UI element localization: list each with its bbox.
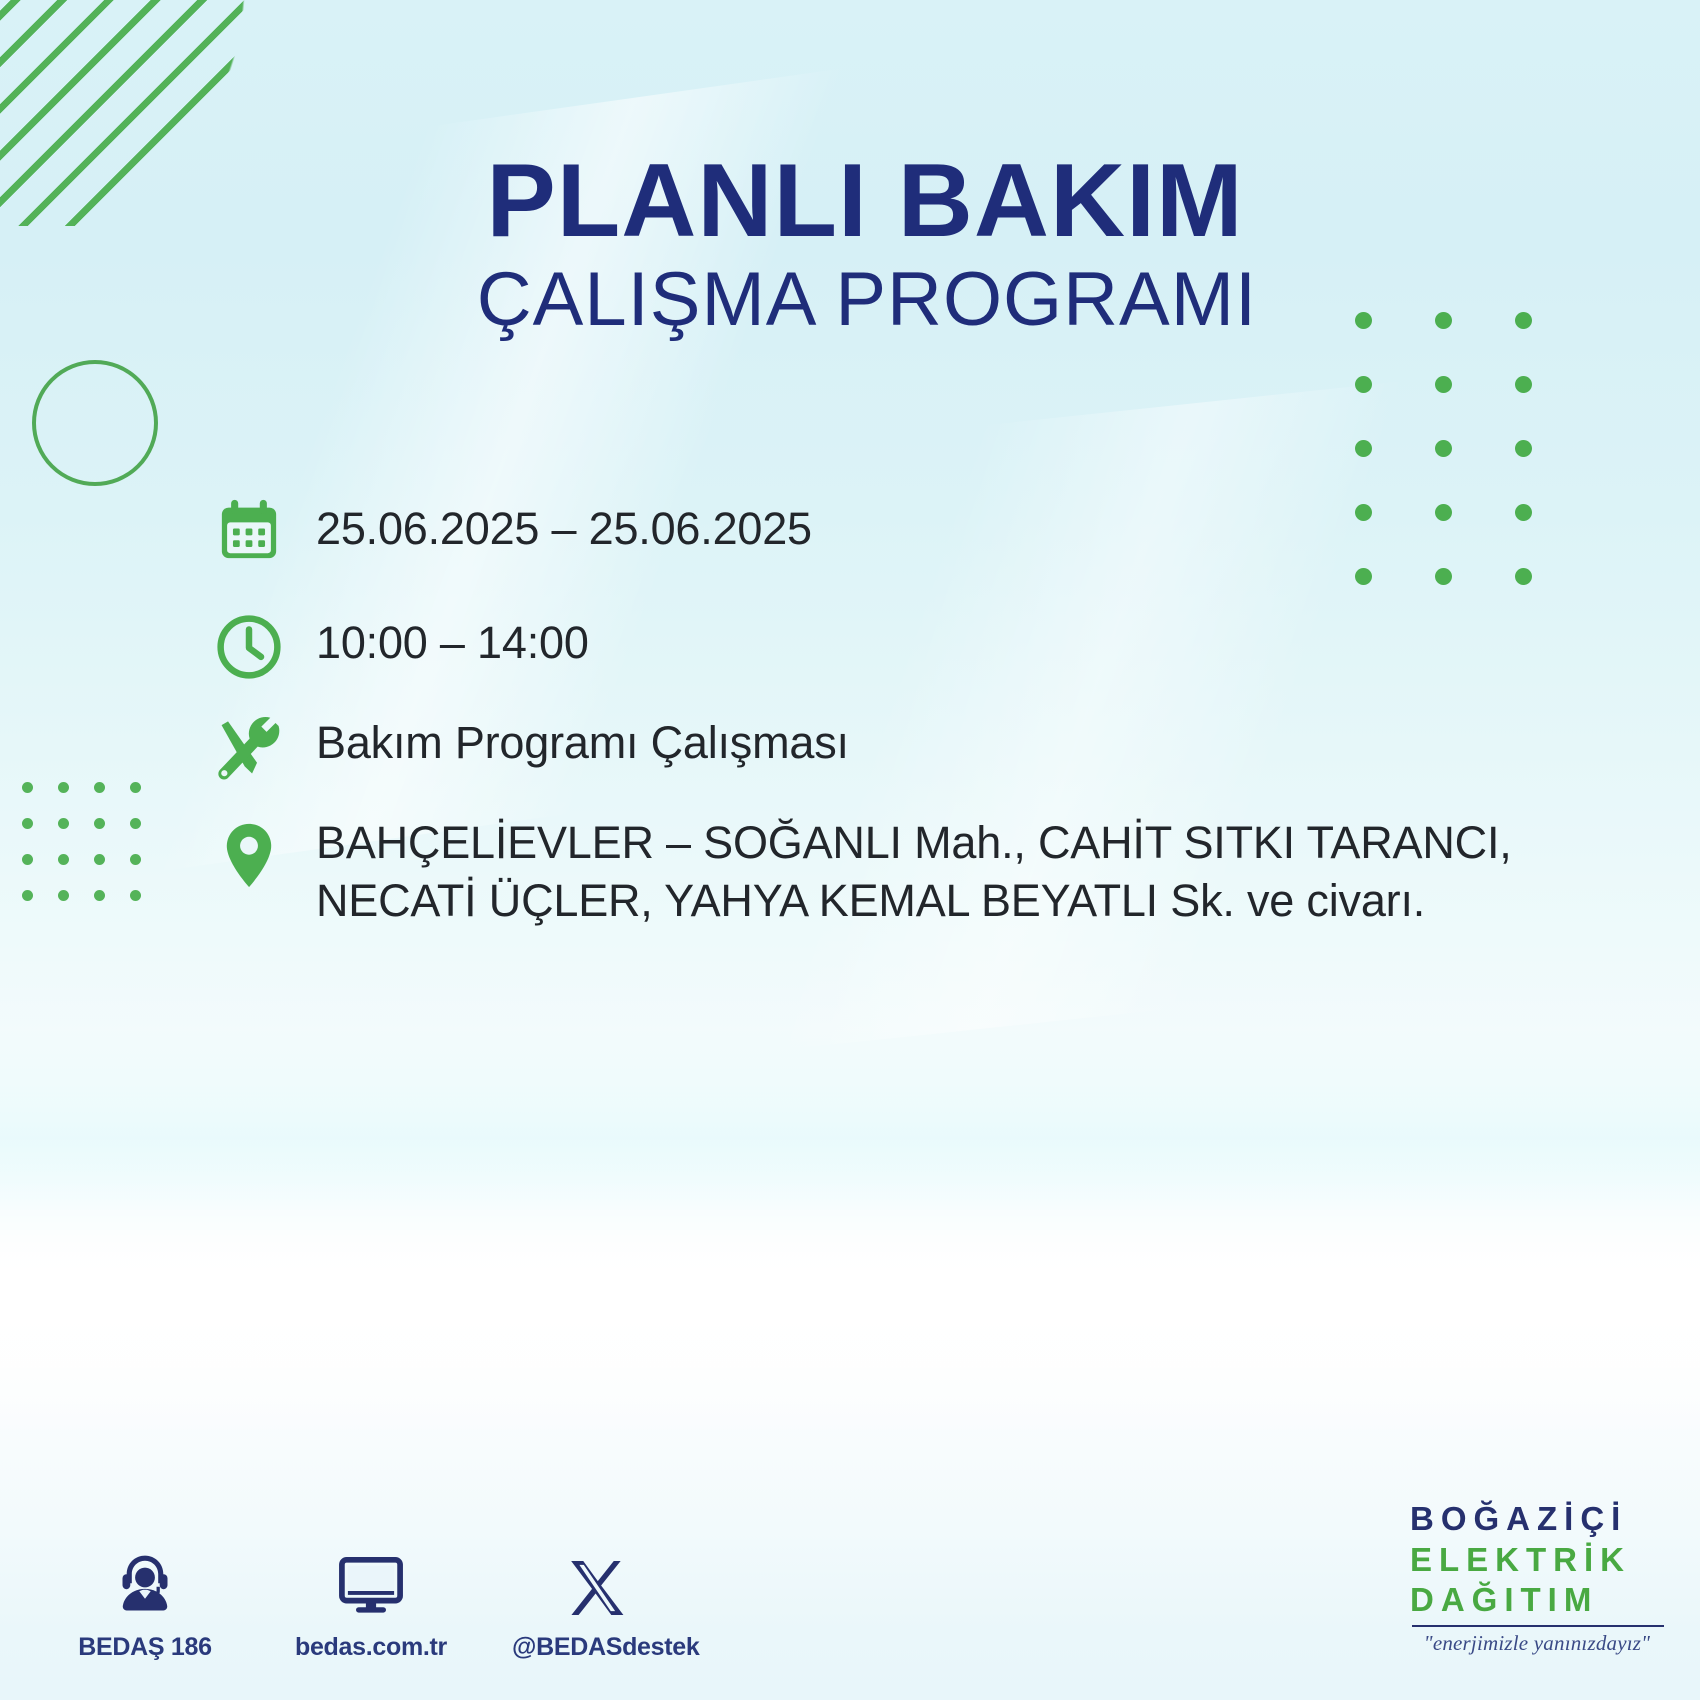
contact-x-social[interactable]: @BEDASdestek — [512, 1543, 682, 1662]
dot-grid-decoration-left — [22, 782, 166, 926]
monitor-icon — [286, 1543, 456, 1621]
tools-icon — [212, 710, 316, 788]
brand-divider — [1412, 1625, 1664, 1627]
location-pin-icon — [212, 814, 316, 892]
clock-icon — [212, 606, 316, 684]
circle-outline-decoration — [32, 360, 158, 486]
brand-tagline: "enerjimizle yanınızdayız" — [1410, 1631, 1664, 1656]
brand-line-bogazici: BOĞAZİÇİ — [1410, 1499, 1664, 1539]
info-row-work: Bakım Programı Çalışması — [212, 710, 1632, 788]
address-text: BAHÇELİEVLER – SOĞANLI Mah., CAHİT SITKI… — [316, 814, 1632, 929]
calendar-icon — [212, 490, 316, 568]
page-subtitle: ÇALIŞMA PROGRAMI — [0, 260, 1700, 340]
poster-header: PLANLI BAKIM ÇALIŞMA PROGRAMI — [0, 148, 1700, 340]
call-center-icon — [60, 1543, 230, 1621]
date-range-text: 25.06.2025 – 25.06.2025 — [316, 490, 812, 558]
info-row-address: BAHÇELİEVLER – SOĞANLI Mah., CAHİT SITKI… — [212, 814, 1632, 929]
footer-contacts: BEDAŞ 186 bedas.com.tr @BEDASdestek — [60, 1543, 682, 1662]
background-light-sweep — [0, 1030, 1700, 1270]
background-light-sweep — [0, 1180, 1700, 1440]
time-range-text: 10:00 – 14:00 — [316, 606, 589, 672]
info-row-date: 25.06.2025 – 25.06.2025 — [212, 490, 1632, 568]
work-type-text: Bakım Programı Çalışması — [316, 710, 849, 772]
contact-call-center-label: BEDAŞ 186 — [60, 1633, 230, 1662]
bedas-brand-logo: BOĞAZİÇİ ELEKTRİK DAĞITIM "enerjimizle y… — [1410, 1499, 1664, 1656]
contact-call-center[interactable]: BEDAŞ 186 — [60, 1543, 230, 1662]
page-title: PLANLI BAKIM — [0, 148, 1700, 254]
info-row-time: 10:00 – 14:00 — [212, 606, 1632, 684]
brand-line-dagitim: DAĞITIM — [1410, 1580, 1664, 1620]
brand-line-elektrik: ELEKTRİK — [1410, 1540, 1664, 1580]
contact-website-label: bedas.com.tr — [286, 1633, 456, 1662]
contact-x-label: @BEDASdestek — [512, 1633, 682, 1662]
planned-maintenance-poster: PLANLI BAKIM ÇALIŞMA PROGRAMI 25.06 — [0, 0, 1700, 1700]
contact-website[interactable]: bedas.com.tr — [286, 1543, 456, 1662]
info-list: 25.06.2025 – 25.06.2025 10:00 – 14:00 Ba… — [212, 490, 1632, 951]
x-twitter-icon — [512, 1543, 682, 1621]
